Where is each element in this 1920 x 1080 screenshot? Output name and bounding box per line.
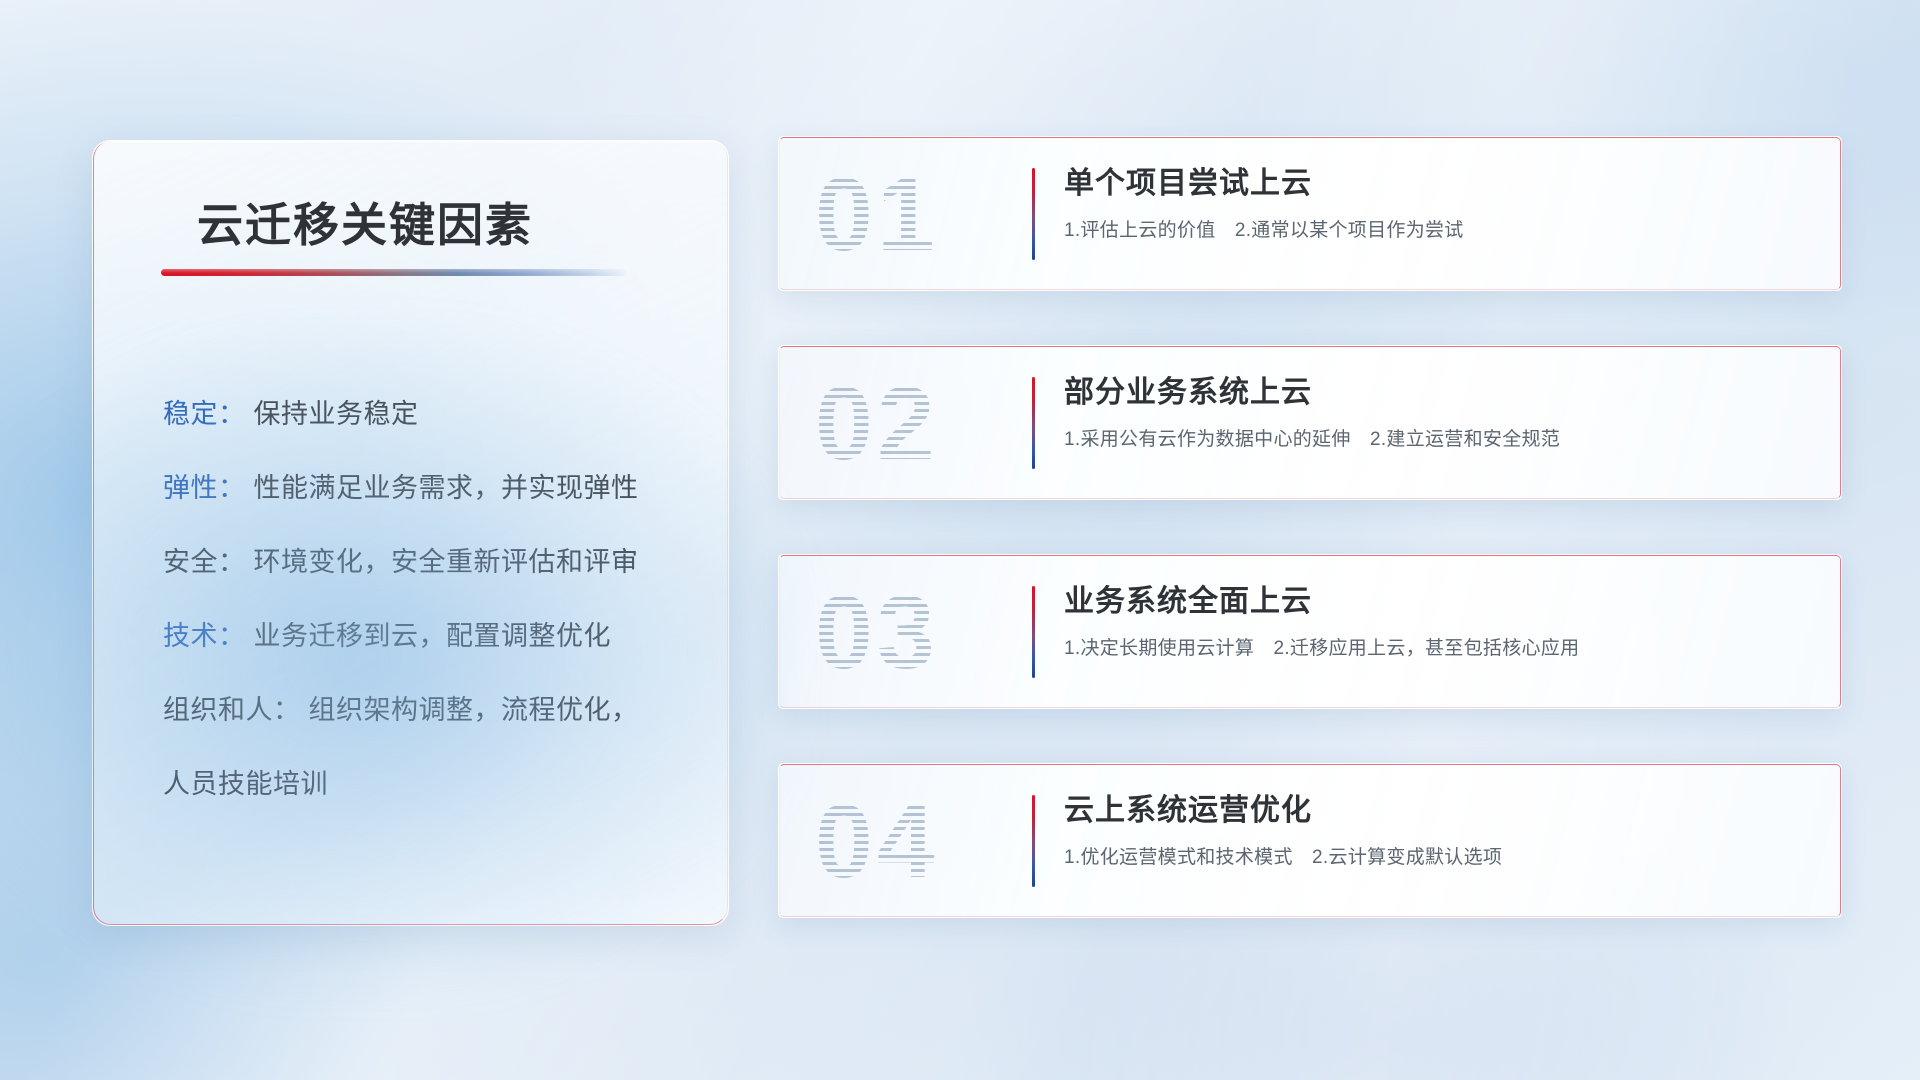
slide-canvas: 云迁移关键因素 稳定： 保持业务稳定 弹性： 性能满足业务需求，并实现弹性 安全… — [0, 0, 1920, 1080]
title-gradient-rule — [161, 269, 627, 276]
card-divider-bar — [1032, 795, 1035, 887]
factor-value: 组织架构调整，流程优化， — [309, 695, 639, 725]
stage-card[interactable]: 02 部分业务系统上云 1.采用公有云作为数据中心的延伸 2.建立运营和安全规范 — [778, 345, 1842, 500]
stage-number: 02 — [815, 360, 1005, 488]
card-title: 业务系统全面上云 — [1064, 581, 1815, 623]
card-title: 云上系统运营优化 — [1064, 790, 1815, 832]
factor-key: 安全： — [163, 547, 246, 577]
stage-number: 03 — [815, 569, 1005, 697]
factor-value: 人员技能培训 — [163, 769, 328, 799]
card-description: 1.优化运营模式和技术模式 2.云计算变成默认选项 — [1064, 844, 1815, 872]
factor-row: 技术： 业务迁移到云，配置调整优化 — [163, 599, 700, 673]
factor-key: 组织和人： — [163, 695, 301, 725]
stage-number: 01 — [815, 151, 1005, 279]
stage-number: 04 — [815, 778, 1005, 906]
factor-list: 稳定： 保持业务稳定 弹性： 性能满足业务需求，并实现弹性 安全： 环境变化，安… — [163, 377, 700, 821]
stage-card[interactable]: 04 云上系统运营优化 1.优化运营模式和技术模式 2.云计算变成默认选项 — [778, 763, 1842, 918]
factor-value: 性能满足业务需求，并实现弹性 — [254, 473, 639, 503]
card-body: 单个项目尝试上云 1.评估上云的价值 2.通常以某个项目作为尝试 — [1064, 163, 1815, 245]
card-divider-bar — [1032, 168, 1035, 260]
card-divider-bar — [1032, 586, 1035, 678]
factor-value: 保持业务稳定 — [254, 399, 419, 429]
card-description: 1.采用公有云作为数据中心的延伸 2.建立运营和安全规范 — [1064, 426, 1815, 454]
factor-value: 业务迁移到云，配置调整优化 — [254, 621, 612, 651]
factor-row: 组织和人： 组织架构调整，流程优化， — [163, 673, 700, 747]
stage-card[interactable]: 01 单个项目尝试上云 1.评估上云的价值 2.通常以某个项目作为尝试 — [778, 136, 1842, 291]
page-title: 云迁移关键因素 — [197, 189, 533, 255]
factor-key: 稳定： — [163, 399, 246, 429]
factor-key: 技术： — [163, 621, 246, 651]
card-description: 1.决定长期使用云计算 2.迁移应用上云，甚至包括核心应用 — [1064, 635, 1815, 663]
factor-value: 环境变化，安全重新评估和评审 — [254, 547, 639, 577]
factor-key: 弹性： — [163, 473, 246, 503]
stage-card-list: 01 单个项目尝试上云 1.评估上云的价值 2.通常以某个项目作为尝试 02 部… — [778, 136, 1842, 972]
factor-row: 安全： 环境变化，安全重新评估和评审 — [163, 525, 700, 599]
card-description: 1.评估上云的价值 2.通常以某个项目作为尝试 — [1064, 217, 1815, 245]
card-body: 部分业务系统上云 1.采用公有云作为数据中心的延伸 2.建立运营和安全规范 — [1064, 372, 1815, 454]
card-title: 部分业务系统上云 — [1064, 372, 1815, 414]
card-title: 单个项目尝试上云 — [1064, 163, 1815, 205]
stage-card[interactable]: 03 业务系统全面上云 1.决定长期使用云计算 2.迁移应用上云，甚至包括核心应… — [778, 554, 1842, 709]
factor-row-continuation: 人员技能培训 — [163, 747, 700, 821]
factor-row: 稳定： 保持业务稳定 — [163, 377, 700, 451]
factor-row: 弹性： 性能满足业务需求，并实现弹性 — [163, 451, 700, 525]
key-factors-panel: 云迁移关键因素 稳定： 保持业务稳定 弹性： 性能满足业务需求，并实现弹性 安全… — [92, 140, 729, 926]
card-divider-bar — [1032, 377, 1035, 469]
card-body: 业务系统全面上云 1.决定长期使用云计算 2.迁移应用上云，甚至包括核心应用 — [1064, 581, 1815, 663]
card-body: 云上系统运营优化 1.优化运营模式和技术模式 2.云计算变成默认选项 — [1064, 790, 1815, 872]
